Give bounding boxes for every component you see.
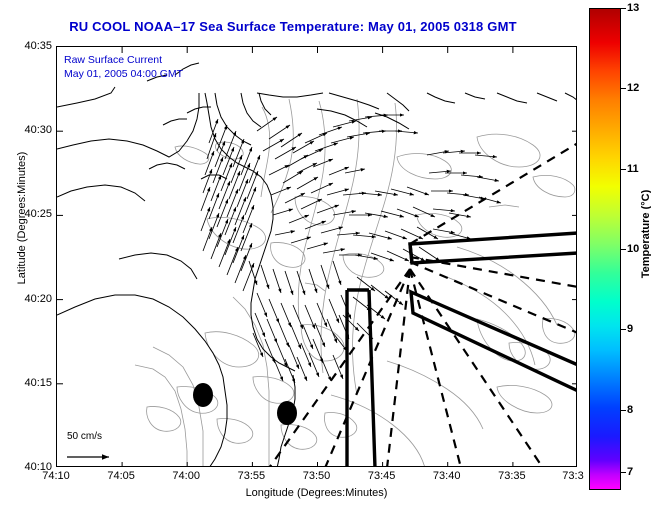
x-tick-label: 73:50 [303, 470, 331, 482]
colorbar[interactable] [589, 8, 621, 490]
x-axis-title: Longitude (Degrees:Minutes) [56, 487, 577, 499]
radar-coverage-wedges [347, 233, 577, 467]
y-tick-label: 40:15 [6, 377, 52, 389]
current-annotation-line2: May 01, 2005 04:00 GMT [64, 67, 183, 81]
x-tick-label: 73:3 [562, 470, 583, 482]
y-tick-label: 40:35 [6, 40, 52, 52]
figure-canvas: RU COOL NOAA–17 Sea Surface Temperature:… [0, 0, 651, 515]
colorbar-tick-label: 13 [627, 2, 639, 14]
colorbar-title: Temperature (°C) [640, 144, 651, 324]
radar-station-markers [193, 383, 297, 425]
radar-station-marker [193, 383, 213, 407]
y-tick-label: 40:30 [6, 124, 52, 136]
x-tick-label: 73:55 [238, 470, 266, 482]
y-axis-title: Latitude (Degrees:Minutes) [16, 108, 28, 328]
x-tick-label: 73:40 [433, 470, 461, 482]
map-graphics [57, 47, 577, 467]
y-tick-label: 40:25 [6, 208, 52, 220]
colorbar-tick-label: 8 [627, 404, 633, 416]
colorbar-tick-label: 10 [627, 243, 639, 255]
current-annotation-line1: Raw Surface Current [64, 53, 162, 67]
colorbar-tick-label: 9 [627, 323, 633, 335]
scale-bar-label: 50 cm/s [67, 431, 102, 442]
radar-radial-lines [269, 143, 577, 467]
colorbar-tick-label: 12 [627, 82, 639, 94]
x-tick-label: 73:35 [498, 470, 526, 482]
map-plot-area[interactable]: Raw Surface Current May 01, 2005 04:00 G… [56, 46, 577, 467]
colorbar-tick-label: 11 [627, 163, 639, 175]
radar-station-marker [277, 401, 297, 425]
x-tick-label: 74:10 [42, 470, 70, 482]
x-axis-tick-labels: 74:10 74:05 74:00 73:55 73:50 73:45 73:4… [56, 470, 577, 486]
x-tick-label: 74:00 [172, 470, 200, 482]
x-tick-label: 74:05 [107, 470, 135, 482]
colorbar-tick-label: 7 [627, 466, 633, 478]
y-tick-label: 40:20 [6, 293, 52, 305]
figure-title: RU COOL NOAA–17 Sea Surface Temperature:… [0, 19, 586, 34]
x-tick-label: 73:45 [368, 470, 396, 482]
bathymetry-contours [135, 99, 575, 467]
